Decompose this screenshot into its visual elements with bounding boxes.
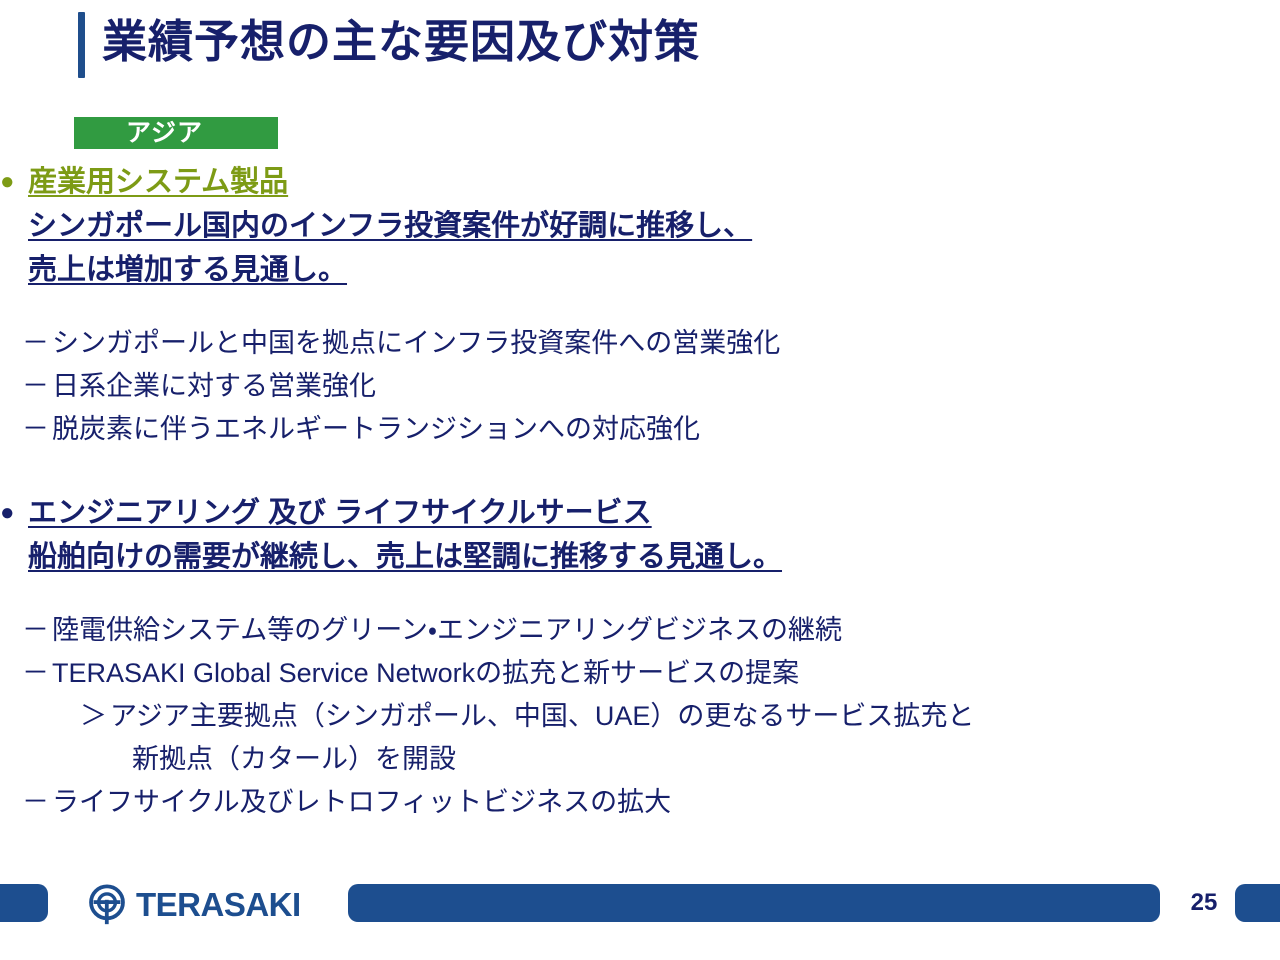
section-lead-line: 売上は増加する見通し。 — [0, 248, 1280, 292]
list-item-label: TERASAKI Global Service Networkの拡充と新サービス… — [52, 658, 799, 688]
list-item-label: 脱炭素に伴うエネルギートランジションへの対応強化 — [52, 414, 700, 444]
terasaki-logo: TERASAKI — [86, 884, 301, 924]
slide-title-row: 業績予想の主な要因及び対策 — [0, 0, 1280, 96]
section-heading-label: エンジニアリング 及び ライフサイクルサービス — [28, 497, 652, 529]
bullet-dot-icon: ● — [0, 491, 28, 535]
footer-bar-main — [348, 884, 1160, 922]
list-item: －シンガポールと中国を拠点にインフラ投資案件への営業強化 — [0, 322, 1280, 365]
dash-marker-icon: － — [22, 609, 49, 652]
terasaki-circle-mark-icon — [86, 883, 128, 925]
footer-bar-left — [0, 884, 48, 922]
slide-footer: TERASAKI 25 — [0, 884, 1280, 960]
page-title: 業績予想の主な要因及び対策 — [102, 9, 700, 75]
list-item: －脱炭素に伴うエネルギートランジションへの対応強化 — [0, 408, 1280, 451]
terasaki-wordmark: TERASAKI — [136, 888, 301, 921]
sub-list-item-label: 新拠点（カタール）を開設 — [132, 744, 456, 774]
section-item-list: －シンガポールと中国を拠点にインフラ投資案件への営業強化 －日系企業に対する営業… — [0, 322, 1280, 451]
slide-body: ●産業用システム製品 シンガポール国内のインフラ投資案件が好調に推移し、 売上は… — [0, 160, 1280, 824]
list-item: －ライフサイクル及びレトロフィットビジネスの拡大 — [0, 781, 1280, 824]
list-item: －TERASAKI Global Service Networkの拡充と新サービ… — [0, 652, 1280, 695]
section-engineering-lifecycle-service: ●エンジニアリング 及び ライフサイクルサービス 船舶向けの需要が継続し、売上は… — [0, 491, 1280, 824]
section-item-list: －陸電供給システム等のグリーン・エンジニアリングビジネスの継続 －TERASAK… — [0, 609, 1280, 824]
dash-marker-icon: － — [22, 781, 49, 824]
region-badge: アジア — [74, 117, 278, 149]
list-item-label: 陸電供給システム等のグリーン・エンジニアリングビジネスの継続 — [52, 615, 842, 645]
list-item: －日系企業に対する営業強化 — [0, 365, 1280, 408]
spacer — [0, 451, 1280, 491]
list-item: －陸電供給システム等のグリーン・エンジニアリングビジネスの継続 — [0, 609, 1280, 652]
bullet-dot-icon: ● — [0, 160, 28, 204]
chevron-right-marker-icon: ＞ — [80, 695, 107, 738]
dash-marker-icon: － — [22, 365, 49, 408]
dash-marker-icon: － — [22, 652, 49, 695]
page-number: 25 — [1180, 888, 1228, 918]
footer-bar-right — [1235, 884, 1280, 922]
section-heading: ●エンジニアリング 及び ライフサイクルサービス — [0, 491, 1280, 535]
list-item-label: ライフサイクル及びレトロフィットビジネスの拡大 — [52, 787, 671, 817]
list-item-label: シンガポールと中国を拠点にインフラ投資案件への営業強化 — [52, 328, 780, 358]
region-badge-label: アジア — [126, 121, 203, 146]
slide: 業績予想の主な要因及び対策 アジア ●産業用システム製品 シンガポール国内のイン… — [0, 0, 1280, 960]
sub-list-item: ＞アジア主要拠点（シンガポール、中国、UAE）の更なるサービス拡充と — [0, 695, 1280, 738]
sub-list-item-label: アジア主要拠点（シンガポール、中国、UAE）の更なるサービス拡充と — [110, 701, 974, 731]
section-heading: ●産業用システム製品 — [0, 160, 1280, 204]
section-lead-line: シンガポール国内のインフラ投資案件が好調に推移し、 — [0, 204, 1280, 248]
spacer — [0, 292, 1280, 322]
spacer — [0, 579, 1280, 609]
section-industrial-system-products: ●産業用システム製品 シンガポール国内のインフラ投資案件が好調に推移し、 売上は… — [0, 160, 1280, 451]
section-lead-line: 船舶向けの需要が継続し、売上は堅調に推移する見通し。 — [0, 535, 1280, 579]
sub-list-item-continuation: 新拠点（カタール）を開設 — [0, 738, 1280, 781]
dash-marker-icon: － — [22, 408, 49, 451]
section-heading-label: 産業用システム製品 — [28, 166, 288, 198]
list-item-label: 日系企業に対する営業強化 — [52, 371, 376, 401]
dash-marker-icon: － — [22, 322, 49, 365]
title-accent-bar — [78, 12, 85, 78]
